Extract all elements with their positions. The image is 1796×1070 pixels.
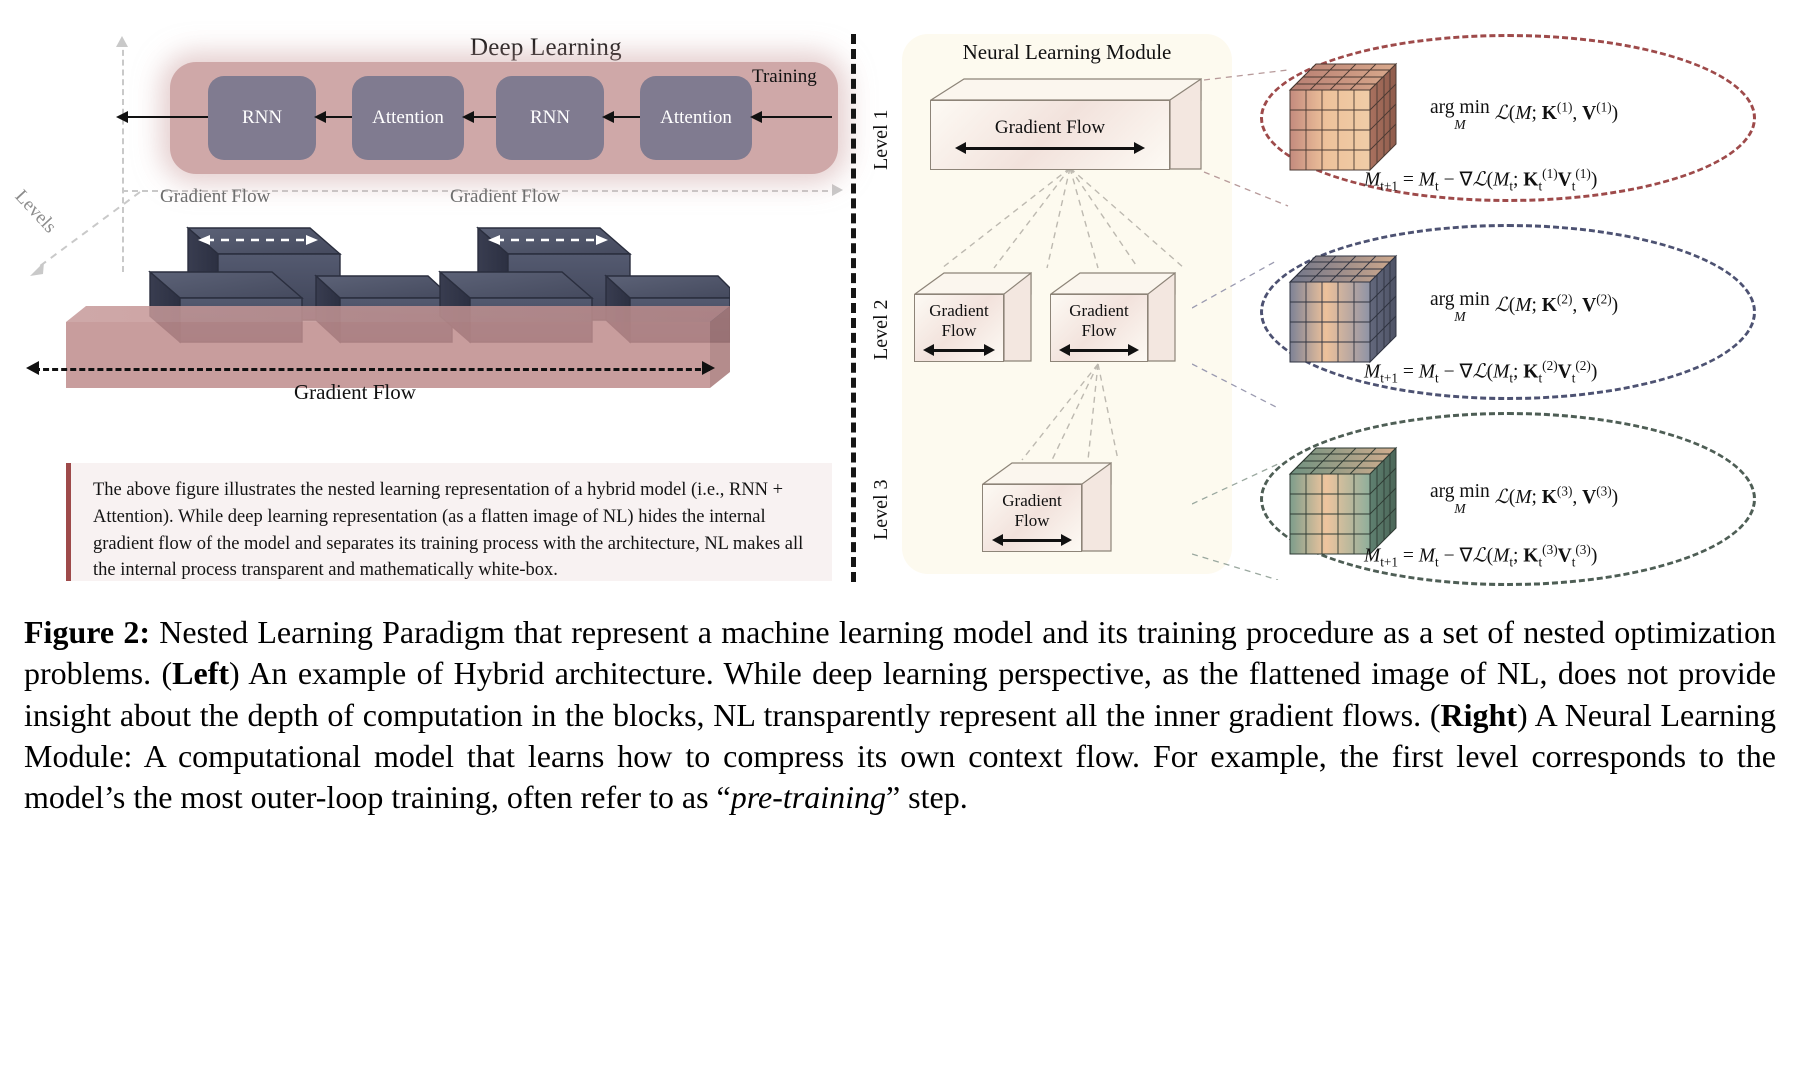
gradient-flow-caption-2: Gradient Flow xyxy=(450,186,560,208)
dl-arrow-2 xyxy=(464,112,496,122)
level-1-label: Level 1 xyxy=(870,85,893,195)
level-3-box-label: Gradient Flow xyxy=(983,491,1081,530)
figure-graphic: Deep Learning Levels RNN Attention RNN A… xyxy=(0,0,1796,600)
level-1-update-formula: Mt+1 = Mt − ∇ℒ(Mt; Kt(1)Vt(1)) xyxy=(1364,166,1597,194)
level-1-objective-formula: arg minM ℒ(M; K(1), V(1)) xyxy=(1430,98,1618,131)
dl-arrow-3 xyxy=(604,112,640,122)
caption-figure-number: Figure 2: xyxy=(24,614,150,650)
level-2-gradient-flow-box-b[interactable]: Gradient Flow xyxy=(1050,272,1176,362)
gradient-flow-bottom-label: Gradient Flow xyxy=(294,380,416,405)
level-3-update-formula: Mt+1 = Mt − ∇ℒ(Mt; Kt(3)Vt(3)) xyxy=(1364,542,1597,570)
level-3-gradient-flow-box[interactable]: Gradient Flow xyxy=(982,462,1112,552)
caption-bold-right: Right xyxy=(1441,697,1517,733)
panel-divider xyxy=(851,34,856,582)
level-2-box-a-label: Gradient Flow xyxy=(915,301,1003,340)
levels-axis-arrowhead xyxy=(116,36,128,47)
gradient-flow-bottom-arrowhead-left xyxy=(26,361,39,375)
level-1-box-label: Gradient Flow xyxy=(995,117,1105,139)
level-2-objective-formula: arg minM ℒ(M; K(2), V(2)) xyxy=(1430,290,1618,323)
dl-block-rnn-1[interactable]: RNN xyxy=(208,76,316,160)
level-2-update-formula: Mt+1 = Mt − ∇ℒ(Mt; Kt(2)Vt(2)) xyxy=(1364,358,1597,386)
nested-blocks-scene xyxy=(10,210,730,390)
dl-arrow-output xyxy=(118,112,208,122)
caption-bold-left: Left xyxy=(172,655,229,691)
level-3-box-arrow xyxy=(992,535,1072,545)
level-2-box-b-label: Gradient Flow xyxy=(1051,301,1147,340)
dl-arrow-1 xyxy=(316,112,352,122)
note-text: The above figure illustrates the nested … xyxy=(93,477,810,584)
caption-italic-pretraining: pre-training xyxy=(731,779,886,815)
dl-arrow-input xyxy=(752,112,832,122)
gradient-flow-bottom-arrow xyxy=(34,368,710,374)
caption-text-4: ” step. xyxy=(886,779,968,815)
gradient-flow-caption-1: Gradient Flow xyxy=(160,186,270,208)
deep-learning-title: Deep Learning xyxy=(470,34,622,62)
level-3-objective-formula: arg minM ℒ(M; K(3), V(3)) xyxy=(1430,482,1618,515)
dl-block-attention-2[interactable]: Attention xyxy=(640,76,752,160)
levels-axis-horizontal-arrowhead xyxy=(832,184,843,196)
figure-caption: Figure 2: Nested Learning Paradigm that … xyxy=(24,612,1776,818)
dl-block-rnn-2[interactable]: RNN xyxy=(496,76,604,160)
right-panel-neural-learning-module: Neural Learning Module Level 1 Level 2 L… xyxy=(862,0,1796,600)
level-1-box-arrow xyxy=(955,143,1145,153)
memory-cube-level-2 xyxy=(1286,248,1416,368)
dl-block-attention-1[interactable]: Attention xyxy=(352,76,464,160)
level-2-label: Level 2 xyxy=(870,275,893,385)
level-2-box-a-arrow xyxy=(923,345,995,355)
memory-cube-level-1 xyxy=(1286,56,1416,176)
training-label: Training xyxy=(752,66,817,88)
level-1-gradient-flow-box[interactable]: Gradient Flow xyxy=(930,78,1202,170)
level-2-gradient-flow-box-a[interactable]: Gradient Flow xyxy=(914,272,1032,362)
level-2-box-b-arrow xyxy=(1059,345,1139,355)
note-box: The above figure illustrates the nested … xyxy=(66,463,832,581)
level-3-label: Level 3 xyxy=(870,455,893,565)
gradient-flow-bottom-arrowhead-right xyxy=(702,361,715,375)
left-panel-deep-learning: Deep Learning Levels RNN Attention RNN A… xyxy=(0,0,860,600)
nlm-title: Neural Learning Module xyxy=(922,40,1212,65)
